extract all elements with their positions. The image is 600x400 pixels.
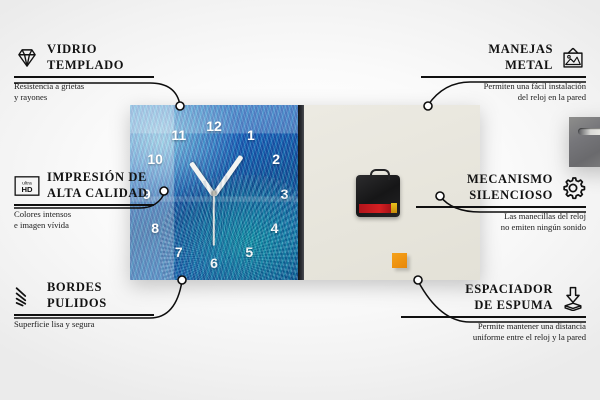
feature-desc-line2: e imagen vívida: [14, 220, 174, 232]
numeral-11: 11: [171, 128, 186, 142]
feature-desc-line1: Superficie lisa y segura: [14, 316, 174, 331]
metal-hanger-plate: [569, 117, 600, 167]
feature-desc-line1: Permiten una fácil instalación: [421, 78, 586, 93]
feature-desc-line2: uniforme entre el reloj y la pared: [401, 332, 586, 344]
feature-title-line1: IMPRESIÓN DE: [47, 170, 148, 186]
feature-header: BORDES PULIDOS: [14, 280, 174, 311]
feature-desc-line1: Las manecillas del reloj: [416, 208, 586, 223]
feature-title-line2: TEMPLADO: [47, 58, 124, 74]
feature-title-line1: VIDRIO: [47, 42, 124, 58]
clock-center-cap: [212, 190, 217, 195]
numeral-6: 6: [210, 256, 218, 270]
foam-spacer-icon: [560, 285, 586, 311]
feature-title-line1: MANEJAS: [488, 42, 553, 58]
feature-header: MECANISMO SILENCIOSO: [416, 172, 586, 203]
numeral-12: 12: [206, 119, 222, 133]
movement-hanging-loop: [370, 169, 390, 180]
numeral-2: 2: [272, 152, 280, 166]
feature-desc-line1: Colores intensos: [14, 206, 174, 221]
clock-minute-hand: [212, 154, 244, 196]
feature-manejas-metal: MANEJAS METAL Permiten una fácil instala…: [421, 42, 586, 104]
feature-vidrio-templado: VIDRIO TEMPLADO Resistencia a grietas y …: [14, 42, 164, 104]
feature-desc-line1: Permite mantener una distancia: [401, 318, 586, 333]
feature-title-line1: MECANISMO: [467, 172, 553, 188]
feature-bordes-pulidos: BORDES PULIDOS Superficie lisa y segura: [14, 280, 174, 330]
ultra-hd-icon: ultra HD: [14, 173, 40, 199]
numeral-1: 1: [247, 128, 255, 142]
feature-title-line2: SILENCIOSO: [467, 188, 553, 204]
numeral-3: 3: [281, 187, 289, 201]
hanger-keyhole-slot: [578, 128, 600, 135]
infographic-canvas: 12 1 2 3 4 5 6 7 8 9 10 11: [0, 0, 600, 400]
feature-desc-line2: y rayones: [14, 92, 164, 104]
clock-second-hand: [213, 193, 215, 245]
feature-title-line1: ESPACIADOR: [465, 282, 553, 298]
feature-header: ESPACIADOR DE ESPUMA: [401, 282, 586, 313]
feature-desc-line1: Resistencia a grietas: [14, 78, 164, 93]
feature-title-line2: PULIDOS: [47, 296, 107, 312]
numeral-7: 7: [175, 245, 183, 259]
feature-title-line2: ALTA CALIDAD: [47, 186, 148, 202]
feature-desc-line2: no emiten ningún sonido: [416, 222, 586, 234]
feature-header: VIDRIO TEMPLADO: [14, 42, 164, 73]
feature-header: MANEJAS METAL: [421, 42, 586, 73]
feature-header: ultra HD IMPRESIÓN DE ALTA CALIDAD: [14, 170, 174, 201]
polished-edges-icon: [14, 283, 40, 309]
picture-frame-icon: [560, 45, 586, 71]
feature-title-line1: BORDES: [47, 280, 107, 296]
movement-label-sticker: [359, 204, 393, 213]
feature-mecanismo-silencioso: MECANISMO SILENCIOSO Las manecillas del …: [416, 172, 586, 234]
clock-hour-hand: [189, 161, 216, 197]
diamond-icon: [14, 45, 40, 71]
foam-spacer-square: [392, 253, 407, 268]
feature-title-line2: METAL: [488, 58, 553, 74]
quartz-movement-box: [356, 175, 400, 217]
numeral-10: 10: [147, 152, 163, 166]
feature-espaciador-espuma: ESPACIADOR DE ESPUMA Permite mantener un…: [401, 282, 586, 344]
gear-icon: [560, 175, 586, 201]
feature-title-line2: DE ESPUMA: [465, 298, 553, 314]
feature-desc-line2: del reloj en la pared: [421, 92, 586, 104]
ultra-hd-icon-text-bottom: HD: [21, 185, 33, 194]
numeral-5: 5: [245, 245, 253, 259]
numeral-4: 4: [271, 221, 279, 235]
feature-impresion-alta-calidad: ultra HD IMPRESIÓN DE ALTA CALIDAD Color…: [14, 170, 174, 232]
